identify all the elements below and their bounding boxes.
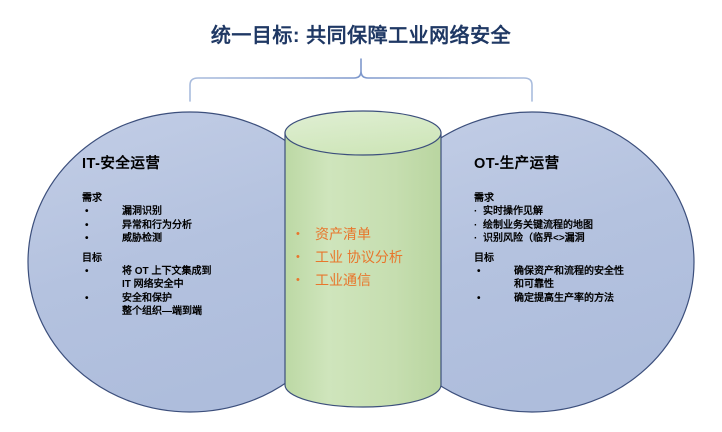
bullet-icon: • <box>296 270 300 291</box>
cylinder-top <box>285 111 441 155</box>
cylinder-text-block: •资产清单 •工业 协议分析 •工业通信 <box>290 224 435 293</box>
list-item: •确定提高生产率的方法 <box>474 292 664 306</box>
cylinder-list: •资产清单 •工业 协议分析 •工业通信 <box>290 224 435 291</box>
bullet-icon: • <box>85 205 89 219</box>
list-item: •资产清单 <box>290 224 435 245</box>
list-item: •威胁检测 <box>82 232 262 246</box>
list-item: ·实时操作见解 <box>474 205 664 219</box>
bullet-icon: • <box>296 247 300 268</box>
list-item-subtext: 整个组织—端到端 <box>122 305 262 319</box>
ot-needs-label: 需求 <box>474 189 664 204</box>
ot-panel-heading: OT-生产运营 <box>474 152 664 173</box>
bullet-icon: • <box>477 265 481 279</box>
list-item: ·绘制业务关键流程的地图 <box>474 219 664 233</box>
it-needs-list: •漏洞识别 •异常和行为分析 •威胁检测 <box>82 205 262 246</box>
bullet-icon: · <box>474 219 477 233</box>
ot-goals-list: •确保资产和流程的安全性和可靠性 •确定提高生产率的方法 <box>474 265 664 306</box>
it-goals-label: 目标 <box>82 249 262 264</box>
bullet-icon: • <box>85 219 89 233</box>
list-item-text: 确定提高生产率的方法 <box>514 292 664 306</box>
list-item-text: 威胁检测 <box>122 232 262 246</box>
bullet-icon: • <box>85 292 89 306</box>
list-item: •漏洞识别 <box>82 205 262 219</box>
bullet-icon: • <box>85 265 89 279</box>
list-item-text: 识别风险（临界<>漏洞 <box>483 233 585 244</box>
it-panel: IT-安全运营 需求 •漏洞识别 •异常和行为分析 •威胁检测 目标 •将 OT… <box>82 152 262 319</box>
it-panel-heading: IT-安全运营 <box>82 152 262 173</box>
list-item: •将 OT 上下文集成到IT 网络安全中 <box>82 265 262 292</box>
list-item: •工业通信 <box>290 270 435 291</box>
list-item-text: 安全和保护 <box>122 292 262 306</box>
it-needs-label: 需求 <box>82 189 262 204</box>
list-item: •安全和保护整个组织—端到端 <box>82 292 262 319</box>
list-item-text: 异常和行为分析 <box>122 219 262 233</box>
list-item-subtext: IT 网络安全中 <box>122 278 262 292</box>
bullet-icon: • <box>296 224 300 245</box>
list-item-text: 将 OT 上下文集成到 <box>122 265 262 279</box>
bullet-icon: • <box>477 292 481 306</box>
list-item: •异常和行为分析 <box>82 219 262 233</box>
page-title: 统一目标: 共同保障工业网络安全 <box>0 19 722 48</box>
list-item-text: 实时操作见解 <box>483 206 543 217</box>
list-item-text: 工业通信 <box>315 272 371 288</box>
curly-brace-up-icon <box>190 59 532 101</box>
list-item: ·识别风险（临界<>漏洞 <box>474 232 664 246</box>
it-goals-list: •将 OT 上下文集成到IT 网络安全中 •安全和保护整个组织—端到端 <box>82 265 262 319</box>
list-item: •工业 协议分析 <box>290 247 435 268</box>
list-item: •确保资产和流程的安全性和可靠性 <box>474 265 664 292</box>
bullet-icon: · <box>474 205 477 219</box>
ot-panel: OT-生产运营 需求 ·实时操作见解 ·绘制业务关键流程的地图 ·识别风险（临界… <box>474 152 664 305</box>
bullet-icon: • <box>85 232 89 246</box>
list-item-text: 绘制业务关键流程的地图 <box>483 220 593 231</box>
slide-canvas: 统一目标: 共同保障工业网络安全 IT-安全运营 需求 •漏洞识别 •异常和行为… <box>0 0 722 432</box>
list-item-text: 漏洞识别 <box>122 205 262 219</box>
list-item-text: 资产清单 <box>315 226 371 242</box>
list-item-text: 工业 协议分析 <box>315 249 403 265</box>
bullet-icon: · <box>474 232 477 246</box>
list-item-text: 确保资产和流程的安全性 <box>514 265 664 279</box>
list-item-subtext: 和可靠性 <box>514 278 664 292</box>
ot-needs-list: ·实时操作见解 ·绘制业务关键流程的地图 ·识别风险（临界<>漏洞 <box>474 205 664 246</box>
ot-goals-label: 目标 <box>474 249 664 264</box>
